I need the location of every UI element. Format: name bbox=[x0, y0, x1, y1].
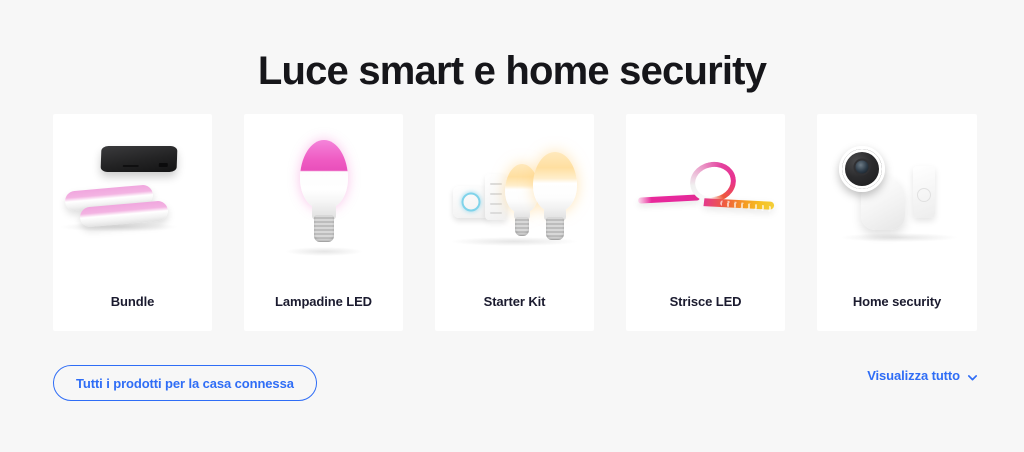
category-card-label: Lampadine LED bbox=[244, 294, 403, 309]
starter-kit-bridge-dimmer-bulbs-image bbox=[435, 114, 594, 274]
camera-head-shape bbox=[839, 146, 885, 192]
bulb-screw-base bbox=[546, 217, 564, 240]
category-card-label: Home security bbox=[817, 294, 977, 309]
led-bulb-image bbox=[244, 114, 403, 274]
category-card-label: Strisce LED bbox=[626, 294, 785, 309]
dimmer-switch-shape bbox=[485, 174, 507, 220]
view-all-link[interactable]: Visualizza tutto bbox=[867, 368, 978, 383]
category-card-label: Bundle bbox=[53, 294, 212, 309]
product-shadow bbox=[286, 247, 362, 256]
bulb-glass bbox=[533, 152, 577, 212]
category-card-home-security[interactable]: Home security bbox=[817, 114, 977, 331]
page-title: Luce smart e home security bbox=[0, 47, 1024, 95]
bundle-sync-box-and-light-bars-image bbox=[53, 114, 212, 274]
led-bulb-shape bbox=[300, 140, 348, 242]
led-bulb-large-shape bbox=[533, 152, 577, 240]
sync-box-shape bbox=[101, 146, 178, 172]
view-all-label: Visualizza tutto bbox=[867, 368, 960, 383]
all-smart-home-products-button[interactable]: Tutti i prodotti per la casa connessa bbox=[53, 365, 317, 401]
light-strip-shape bbox=[634, 156, 778, 236]
strip-left-segment bbox=[638, 194, 700, 203]
hue-bridge-shape bbox=[453, 186, 489, 218]
category-card-starter-kit[interactable]: Starter Kit bbox=[435, 114, 594, 331]
led-light-strip-image bbox=[626, 114, 785, 274]
bulb-screw-base bbox=[515, 217, 529, 236]
category-card-label: Starter Kit bbox=[435, 294, 594, 309]
category-card-strisce-led[interactable]: Strisce LED bbox=[626, 114, 785, 331]
smart-doorbell-shape bbox=[913, 166, 935, 218]
bulb-screw-base bbox=[314, 215, 334, 242]
product-shadow bbox=[841, 233, 957, 242]
camera-lens-shape bbox=[856, 160, 869, 173]
product-category-section: Luce smart e home security Bundle bbox=[0, 0, 1024, 452]
category-card-row: Bundle Lampadine LED bbox=[53, 114, 977, 331]
category-card-lampadine-led[interactable]: Lampadine LED bbox=[244, 114, 403, 331]
bulb-glass bbox=[300, 140, 348, 209]
security-camera-and-doorbell-image bbox=[817, 114, 977, 274]
chevron-down-icon bbox=[967, 371, 978, 382]
category-card-bundle[interactable]: Bundle bbox=[53, 114, 212, 331]
